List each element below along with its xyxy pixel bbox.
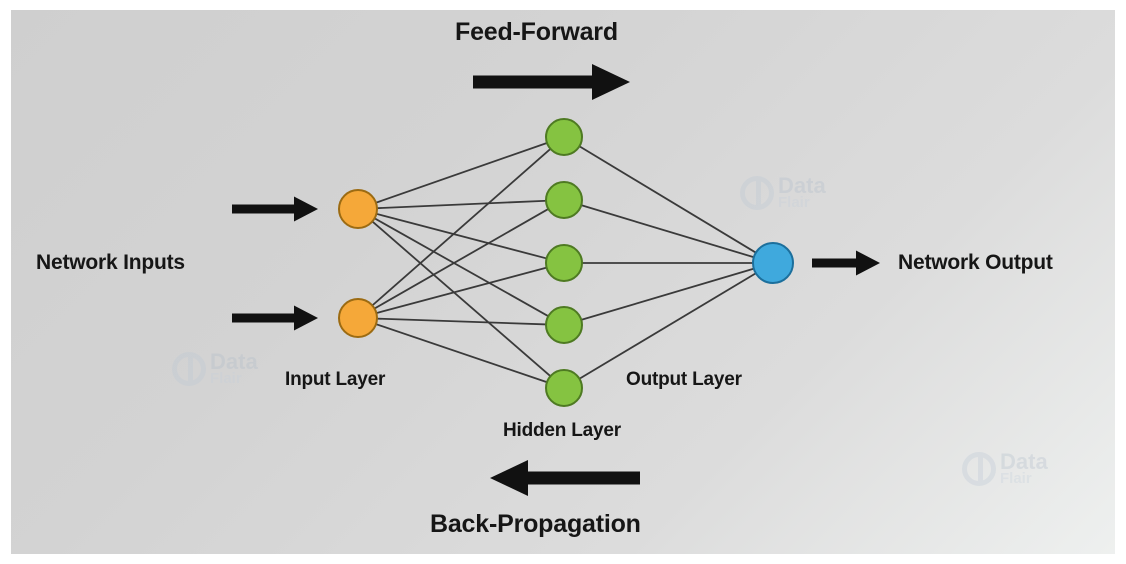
flow-arrow-input-1 <box>232 197 318 222</box>
input-node <box>339 299 377 337</box>
input-layer-label: Input Layer <box>285 369 385 391</box>
hidden-node <box>546 370 582 406</box>
network-graphic <box>0 0 1126 564</box>
hidden-node <box>546 307 582 343</box>
network-edge <box>579 146 757 253</box>
arrow-head <box>294 306 318 331</box>
network-edge <box>376 319 547 325</box>
arrow-head <box>592 64 630 100</box>
arrow-head <box>856 251 880 276</box>
arrow-head <box>490 460 528 496</box>
network-edge <box>375 214 547 259</box>
arrow-shaft <box>232 314 294 323</box>
hidden-node <box>546 182 582 218</box>
input-node <box>339 190 377 228</box>
network-edge <box>375 267 547 313</box>
network-edge <box>376 201 547 208</box>
output-node <box>753 243 793 283</box>
flow-arrow-input-2 <box>232 306 318 331</box>
hidden-node <box>546 119 582 155</box>
hidden-layer-label: Hidden Layer <box>503 420 621 442</box>
arrow-shaft <box>232 205 294 214</box>
back-propagation-title: Back-Propagation <box>430 510 641 539</box>
network-edge <box>372 148 552 306</box>
network-edge <box>375 324 548 383</box>
flow-arrow-feed-forward <box>473 64 630 100</box>
network-edge <box>580 268 754 320</box>
network-edge <box>580 205 755 258</box>
arrow-shaft <box>473 76 592 89</box>
network-edge <box>374 208 550 309</box>
arrow-shaft <box>528 472 640 485</box>
flow-arrow-output-1 <box>812 251 880 276</box>
hidden-node <box>546 245 582 281</box>
flow-arrow-back-propagation <box>490 460 640 496</box>
network-edge <box>374 218 550 317</box>
diagram-canvas: Feed-Forward Back-Propagation Network In… <box>0 0 1126 564</box>
network-inputs-label: Network Inputs <box>36 251 185 275</box>
arrow-shaft <box>812 259 856 268</box>
feed-forward-title: Feed-Forward <box>455 18 618 47</box>
network-output-label: Network Output <box>898 251 1053 275</box>
network-edge <box>579 273 757 380</box>
output-layer-label: Output Layer <box>626 369 742 391</box>
arrow-head <box>294 197 318 222</box>
